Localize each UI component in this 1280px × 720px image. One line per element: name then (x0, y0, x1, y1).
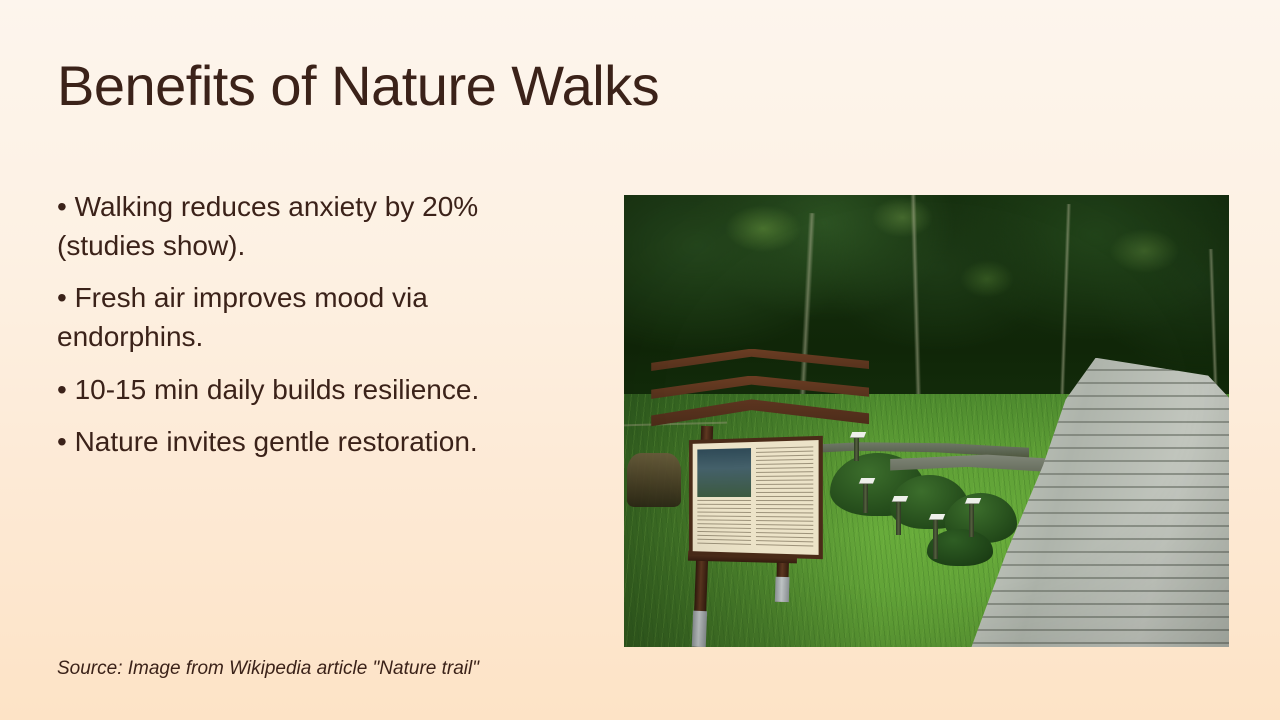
slide: Benefits of Nature Walks • Walking reduc… (0, 0, 1280, 720)
information-signboard (651, 349, 869, 647)
source-caption: Source: Image from Wikipedia article "Na… (57, 658, 479, 680)
page-title: Benefits of Nature Walks (57, 55, 659, 118)
panel-text-lines (697, 500, 751, 547)
list-item: • 10-15 min daily builds resilience. (57, 371, 577, 410)
nature-trail-photo (624, 195, 1229, 647)
signboard-metal-foot (691, 611, 707, 647)
list-item: • Walking reduces anxiety by 20% (studie… (57, 188, 577, 265)
list-item: • Nature invites gentle restoration. (57, 423, 577, 462)
panel-photo (697, 448, 751, 497)
photo-scene (624, 195, 1229, 647)
signboard-panel (689, 436, 823, 560)
list-item: • Fresh air improves mood via endorphins… (57, 279, 577, 356)
bullet-list: • Walking reduces anxiety by 20% (studie… (57, 188, 577, 462)
panel-text-lines (756, 446, 813, 547)
signboard-metal-foot (774, 577, 790, 602)
